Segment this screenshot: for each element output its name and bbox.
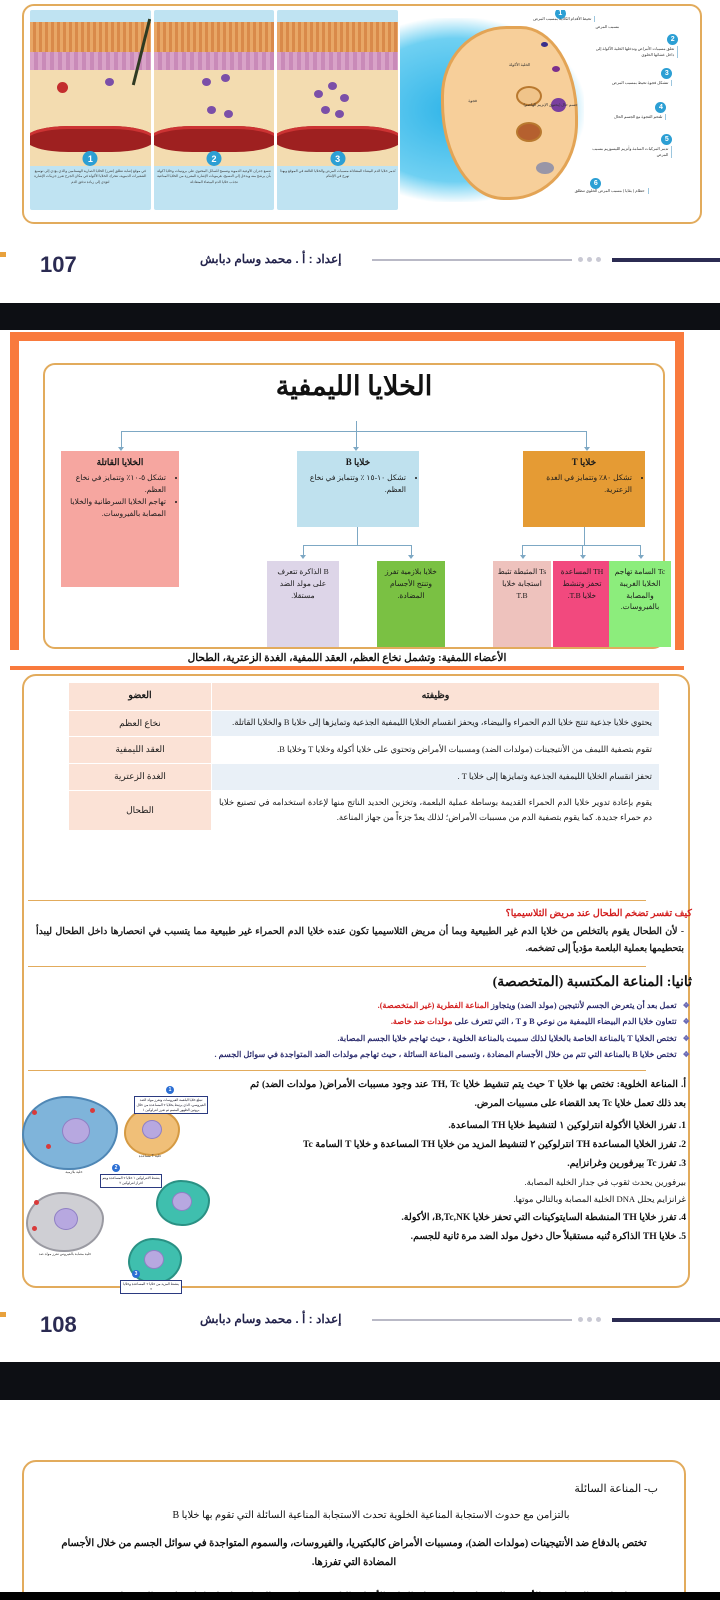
connector-b-split xyxy=(303,545,411,546)
list-subitem: بيرفورين يحدث ثقوب في جدار الخلية المصاب… xyxy=(236,1174,686,1191)
cellular-immunity-list: 1. تفرز الخلايا الأكولة انترلوكين ١ لتنش… xyxy=(236,1116,686,1246)
blood-vessel xyxy=(154,126,275,152)
footer-dash xyxy=(0,252,6,257)
phago-label-lysosome: جسم حال (يحتوي الإنزيم الهاضم) xyxy=(524,102,578,107)
lymphatic-organs-table: وظيفته العضو يحتوي خلايا جذعية تنتج خلاي… xyxy=(68,682,660,831)
table-cell-organ: الغدة الزعترية xyxy=(69,764,212,791)
bullet-text-part: تختص خلايا B بالمناعة التي تتم من خلال ا… xyxy=(215,1050,677,1059)
page-number-108: 108 xyxy=(40,1312,77,1338)
list-item: 4. تفرز خلايا TH المنشطة السايتوكينات ال… xyxy=(236,1208,686,1227)
figure-label-infected-cell: خلية مصابة بالفيروس تفرز مولد ضد xyxy=(30,1252,100,1256)
node-memory-b-text: B الذاكرة تتعرف على مولد الضد مستقلا. xyxy=(277,567,328,600)
arrow-memory-b xyxy=(300,555,306,559)
figure-step-number-1: 1 xyxy=(166,1086,174,1094)
connector-trunk xyxy=(121,431,587,432)
node-th-text: TH المساعدة تحفز وتنشط خلايا T.B. xyxy=(561,567,603,600)
phago-step-number-3: 3 xyxy=(661,68,672,79)
table-cell-function: تحفز انقسام الخلايا الليمفية الجذعية وتم… xyxy=(212,764,660,791)
lymphocyte-diagram-card: الخلايا الليمفية الخلايا القاتلة تشكل ٥-… xyxy=(43,363,665,649)
table-row: يحتوي خلايا جذعية تنتج خلايا الدم الحمرا… xyxy=(69,710,660,737)
bullet-text-part: تعمل بعد أن يتعرض الجسم لأنتيجين (مولد ا… xyxy=(489,1001,677,1010)
separator-above-cellular xyxy=(28,1070,646,1071)
node-b-heading: خلايا B xyxy=(301,456,415,470)
phago-step-text-4: تلتحم الفجوة مع الجسم الحال xyxy=(578,114,666,120)
panel-number-1: 1 xyxy=(83,151,98,166)
phago-step-number-5: 5 xyxy=(661,134,672,145)
node-b-bullet-1: تشكل ١٠-١٥ ٪ وتتمايز في نخاع العظم. xyxy=(301,472,406,496)
bottom-edge-band xyxy=(0,1592,720,1600)
lymphatic-organs-caption: الأعضاء اللمفية: وتشمل نخاع العظم، العقد… xyxy=(10,650,684,666)
table-row: يقوم بإعادة تدوير خلايا الدم الحمراء الق… xyxy=(69,790,660,830)
arrow-tc xyxy=(638,555,644,559)
table-row: تقوم بتصفية الليمف من الأنتيجينات (مولدا… xyxy=(69,737,660,764)
list-subitem: غرانزايم يحلل DNA الخلية المصابة وبالتال… xyxy=(236,1191,686,1208)
list-item-number: 1. xyxy=(679,1120,686,1131)
infected-cell-nucleus xyxy=(54,1208,78,1230)
inflammation-phagocytosis-figure: 3 تُدمر خلايا الدم البيضاء المتعادلة مسب… xyxy=(22,4,702,224)
lymphocyte-highlight-frame: الخلايا الليمفية الخلايا القاتلة تشكل ٥-… xyxy=(10,332,684,670)
footer-dots xyxy=(578,257,601,262)
figure-step-text-2: ينشط الانترلوكين ١ خلايا T المساعدة ويتم… xyxy=(100,1174,162,1188)
phago-label-pathogen: مسبب المرض xyxy=(596,24,620,29)
table-header-organ: العضو xyxy=(69,683,212,711)
table-cell-organ: الطحال xyxy=(69,790,212,830)
list-item: 3. تفرز Tc بيرفورين وغرانزايم. xyxy=(236,1154,686,1173)
table-cell-function: تقوم بتصفية الليمف من الأنتيجينات (مولدا… xyxy=(212,737,660,764)
footer-credit-108: إعداد : أ . محمد وسام دبابش xyxy=(200,1312,341,1326)
connector-t-stem xyxy=(584,527,585,545)
list-item: 2. تفرز الخلايا المساعدة TH انترلوكين ٢ … xyxy=(236,1135,686,1154)
node-ts-cells: Ts المثبطة تثبط استجابة خلايا T.B xyxy=(493,561,551,647)
node-ts-text: Ts المثبطة تثبط استجابة خلايا T.B xyxy=(498,567,546,600)
list-item-text: تفرز خلايا TH المنشطة السايتوكينات التي … xyxy=(401,1212,676,1223)
footer-rule xyxy=(372,1319,572,1321)
bullet-text-highlight: مولدات ضد خاصة. xyxy=(391,1017,453,1026)
page-gap-band-1 xyxy=(0,303,720,330)
footer-rule xyxy=(372,259,572,261)
bullet-text-part: تتعاون خلايا الدم البيضاء الليمفية من نو… xyxy=(453,1017,677,1026)
blood-vessel xyxy=(277,126,398,152)
table-cell-organ: نخاع العظم xyxy=(69,710,212,737)
diamond-bullet-icon: ❖ xyxy=(683,1017,690,1026)
arrow-plasma xyxy=(408,555,414,559)
phago-step-text-2: تعلق مسببات الأمراض وتدخلها الخلية الأكو… xyxy=(590,46,678,58)
phago-label-vacuole: فجوة xyxy=(468,98,477,103)
cytotoxic-t-nucleus xyxy=(144,1250,164,1269)
phago-label-macrophage: الخلية الأكولة xyxy=(509,62,530,67)
bullet-item: ❖ تتعاون خلايا الدم البيضاء الليمفية من … xyxy=(30,1014,690,1030)
list-item-number: 2. xyxy=(679,1139,686,1150)
figure-step-number-3: 3 xyxy=(132,1270,140,1278)
diamond-bullet-icon: ❖ xyxy=(683,1050,690,1059)
bullet-item: ❖ تعمل بعد أن يتعرض الجسم لأنتيجين (مولد… xyxy=(30,998,690,1014)
node-b-cells: خلايا B تشكل ١٠-١٥ ٪ وتتمايز في نخاع الع… xyxy=(297,451,419,527)
footer-107: 107 إعداد : أ . محمد وسام دبابش xyxy=(0,238,720,284)
footer-bar xyxy=(612,1318,720,1322)
inflammation-panel-1: 1 في موقع إصابة تطلق (تفرز) الخلايا الصا… xyxy=(30,10,151,210)
bullet-text-highlight: المناعة الفطرية (غير المتخصصة). xyxy=(378,1001,489,1010)
dermis-layer xyxy=(30,52,151,70)
list-item-text: تفرز Tc بيرفورين وغرانزايم. xyxy=(567,1158,676,1169)
inflammation-panel-3: 3 تُدمر خلايا الدم البيضاء المتعادلة مسب… xyxy=(277,10,398,210)
cellular-immunity-figure: خلية بلازمية خلية مصابة بالفيروس تفرز مو… xyxy=(16,1084,212,1294)
dermis-layer xyxy=(154,52,275,70)
epidermis-layer xyxy=(277,22,398,52)
node-memory-b: B الذاكرة تتعرف على مولد الضد مستقلا. xyxy=(267,561,339,647)
list-item-text: خلايا TH الذاكرة تُنبه مستقبلاً حال دخول… xyxy=(411,1231,677,1242)
page-107: 3 تُدمر خلايا الدم البيضاء المتعادلة مسب… xyxy=(0,0,720,303)
table-header-function: وظيفته xyxy=(212,683,660,711)
diamond-bullet-icon: ❖ xyxy=(683,1001,690,1010)
footer-dots xyxy=(578,1317,601,1322)
arrow-th xyxy=(580,555,586,559)
phago-step-number-4: 4 xyxy=(655,102,666,113)
panel-caption-2: تتسع جدران الأوعية الدموية وتسمح للسائل … xyxy=(156,169,273,209)
node-killer-bullet-1: تشكل ٥-١٠٪ وتتمايز في نخاع العظم. xyxy=(65,472,166,496)
debris xyxy=(536,162,554,174)
list-item-text: تفرز الخلايا الأكولة انترلوكين ١ لتنشيط … xyxy=(448,1120,676,1131)
table-cell-organ: العقد الليمفية xyxy=(69,737,212,764)
connector-trunk-down xyxy=(356,421,357,431)
node-tc-text: Tc السامة تهاجم الخلايا الغريبة والمصابة… xyxy=(615,567,666,611)
footer-dash xyxy=(0,1312,6,1317)
acquired-immunity-heading: ثانيا: المناعة المكتسبة (المتخصصة) xyxy=(493,974,692,991)
helper-t-nucleus xyxy=(142,1120,162,1139)
page-108: الخلايا الليمفية الخلايا القاتلة تشكل ٥-… xyxy=(0,330,720,1362)
diamond-bullet-icon: ❖ xyxy=(683,1034,690,1043)
lymphatic-organs-caption-wrap: الأعضاء اللمفية: وتشمل نخاع العظم، العقد… xyxy=(10,650,684,666)
list-item-text: تفرز الخلايا المساعدة TH انترلوكين ٢ لتن… xyxy=(303,1139,676,1150)
page-gap-band-2 xyxy=(0,1362,720,1400)
table-header-row: وظيفته العضو xyxy=(69,683,660,711)
bullet-item: ❖ تختص الخلايا T بالمناعة الخاصة بالخلاي… xyxy=(30,1031,690,1047)
node-t-cells: خلايا T تشكل ٨٠٪ وتتمايز في الغدة الزعتر… xyxy=(523,451,645,527)
phago-step-number-2: 2 xyxy=(667,34,678,45)
humoral-immunity-heading: ب- المناعة السائلة xyxy=(574,1482,658,1495)
inflammation-panel-2: 2 تتسع جدران الأوعية الدموية وتسمح للسائ… xyxy=(154,10,275,210)
blood-vessel xyxy=(30,126,151,152)
phago-step-text-6: حطام ( بقايا ) مسبب المرض الخلوي تنطلق xyxy=(561,188,649,194)
phago-step-text-3: تتشكل فجوة تحيط بمسبب المرض xyxy=(584,80,672,86)
footer-108: 108 إعداد : أ . محمد وسام دبابش xyxy=(0,1298,720,1344)
phago-step-text-1: تحيط الأقدام الكاذبة بمسبب المرض xyxy=(507,16,595,22)
node-plasma-text: خلايا بلازمية تفرز وتنتج الأجسام المضادة… xyxy=(385,567,437,600)
node-th-cells: TH المساعدة تحفز وتنشط خلايا T.B. xyxy=(553,561,611,647)
inflammation-panels: 3 تُدمر خلايا الدم البيضاء المتعادلة مسب… xyxy=(30,10,398,210)
list-item-number: 5. xyxy=(679,1231,686,1242)
cellular-immunity-intro: أ. المناعة الخلوية: تختص بها خلايا T حيث… xyxy=(250,1076,686,1113)
thalassemia-answer: - لأن الطحال يقوم بالتخلص من خلايا الدم … xyxy=(36,924,684,959)
list-item-number: 4. xyxy=(679,1212,686,1223)
page-number-107: 107 xyxy=(40,252,77,278)
macrophage-body xyxy=(441,26,577,200)
figure-label-helper-t: خلية T مساعدة xyxy=(126,1154,174,1158)
figure-step-number-2: 2 xyxy=(112,1164,120,1172)
separator-above-thalassemia xyxy=(28,900,646,901)
acquired-immunity-bullets: ❖ تعمل بعد أن يتعرض الجسم لأنتيجين (مولد… xyxy=(30,998,690,1064)
fused-vacuole xyxy=(516,122,542,142)
list-item-number: 3. xyxy=(679,1158,686,1169)
epidermis-layer xyxy=(154,22,275,52)
node-t-bullet-1: تشكل ٨٠٪ وتتمايز في الغدة الزعترية. xyxy=(527,472,632,496)
figure-step-text-3: ينشط المزيد من خلايا T المساعدة وخلايا T xyxy=(120,1280,182,1294)
bullet-item: ❖ تختص خلايا B بالمناعة التي تتم من خلال… xyxy=(30,1047,690,1063)
table-cell-function: يقوم بإعادة تدوير خلايا الدم الحمراء الق… xyxy=(212,790,660,830)
lymphocyte-diagram-title: الخلايا الليمفية xyxy=(45,371,663,402)
page-109: ب- المناعة السائلة بالتزامن مع حدوث الاس… xyxy=(0,1400,720,1600)
dermis-layer xyxy=(277,52,398,70)
node-t-heading: خلايا T xyxy=(527,456,641,470)
humoral-immunity-para-1: بالتزامن مع حدوث الاستجابة المناعية الخل… xyxy=(84,1506,658,1525)
node-killer-heading: الخلايا القاتلة xyxy=(65,456,175,470)
page-109-card: ب- المناعة السائلة بالتزامن مع حدوث الاس… xyxy=(22,1460,686,1600)
figure-step-text-1: تبتلع خلايا البلعمة الفيروسات وتفرز مولد… xyxy=(134,1096,208,1114)
bullet-text-part: تختص الخلايا T بالمناعة الخاصة بالخلايا … xyxy=(338,1034,677,1043)
memory-t-nucleus xyxy=(172,1192,192,1211)
plasma-cell-nucleus xyxy=(62,1118,90,1144)
node-plasma-cells: خلايا بلازمية تفرز وتنتج الأجسام المضادة… xyxy=(377,561,445,647)
panel-caption-3: تُدمر خلايا الدم البيضاء المتعادلة مسببا… xyxy=(279,169,396,209)
connector-b-stem xyxy=(357,527,358,545)
node-killer-cells: الخلايا القاتلة تشكل ٥-١٠٪ وتتمايز في نخ… xyxy=(61,451,179,587)
epidermis-layer xyxy=(30,22,151,52)
footer-credit-107: إعداد : أ . محمد وسام دبابش xyxy=(200,252,341,266)
footer-bar xyxy=(612,258,720,262)
separator-above-acquired xyxy=(28,966,646,967)
node-killer-bullet-2: تهاجم الخلايا السرطانية والخلايا المصابة… xyxy=(65,496,166,520)
table-row: تحفز انقسام الخلايا الليمفية الجذعية وتم… xyxy=(69,764,660,791)
list-item: 1. تفرز الخلايا الأكولة انترلوكين ١ لتنش… xyxy=(236,1116,686,1135)
panel-number-3: 3 xyxy=(330,151,345,166)
figure-label-plasma-cell: خلية بلازمية xyxy=(46,1170,102,1174)
phagocytosis-diagram: مسبب المرض الخلية الأكولة فجوة جسم حال (… xyxy=(400,10,696,210)
arrow-ts xyxy=(520,555,526,559)
thalassemia-question: كيف تفسر تضخم الطحال عند مريض الثلاسيميا… xyxy=(506,908,692,919)
panel-caption-1: في موقع إصابة تطلق (تفرز) الخلايا الصاري… xyxy=(32,169,149,209)
table-cell-function: يحتوي خلايا جذعية تنتج خلايا الدم الحمرا… xyxy=(212,710,660,737)
humoral-immunity-para-2: تختص بالدفاع ضد الأنتيجينات (مولدات الضد… xyxy=(50,1534,658,1572)
phago-step-text-5: تدمر المركبات السامة وأنزيم الليسوزيم مس… xyxy=(584,146,672,158)
list-item: 5. خلايا TH الذاكرة تُنبه مستقبلاً حال د… xyxy=(236,1227,686,1246)
panel-number-2: 2 xyxy=(206,151,221,166)
node-tc-cells: Tc السامة تهاجم الخلايا الغريبة والمصابة… xyxy=(609,561,671,647)
